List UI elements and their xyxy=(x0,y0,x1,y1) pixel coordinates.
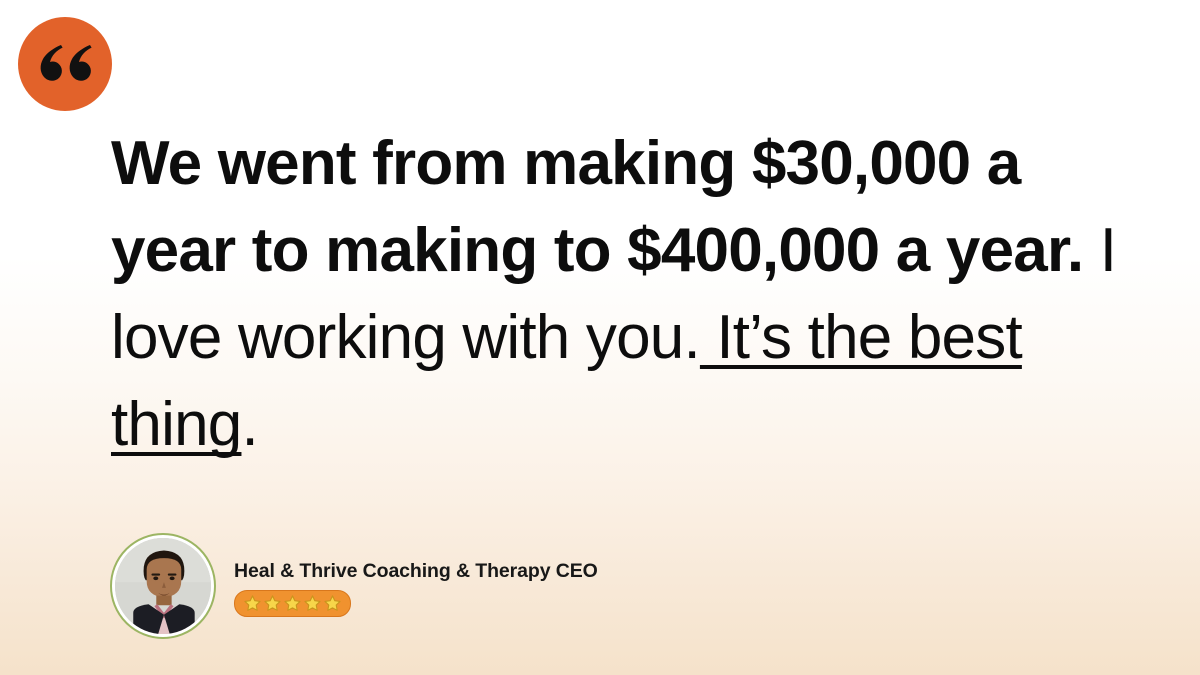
avatar-photo xyxy=(115,538,211,634)
attribution: Heal & Thrive Coaching & Therapy CEO xyxy=(110,533,598,639)
star-icon xyxy=(243,594,262,613)
star-rating-badge xyxy=(234,590,351,617)
testimonial-slide: We went from making $30,000 a year to ma… xyxy=(0,0,1200,675)
quote-segment-bold: We went from making $30,000 a year to ma… xyxy=(111,129,1083,285)
attribution-name: Heal & Thrive Coaching & Therapy CEO xyxy=(234,560,598,583)
double-quote-open-icon xyxy=(34,42,96,86)
star-icon xyxy=(263,594,282,613)
quote-segment-period: . xyxy=(241,390,257,459)
quote-mark-badge xyxy=(18,17,112,111)
attribution-text: Heal & Thrive Coaching & Therapy CEO xyxy=(234,556,598,617)
star-icon xyxy=(303,594,322,613)
avatar xyxy=(110,533,216,639)
star-icon xyxy=(283,594,302,613)
quote-text: We went from making $30,000 a year to ma… xyxy=(111,120,1131,468)
star-icon xyxy=(323,594,342,613)
